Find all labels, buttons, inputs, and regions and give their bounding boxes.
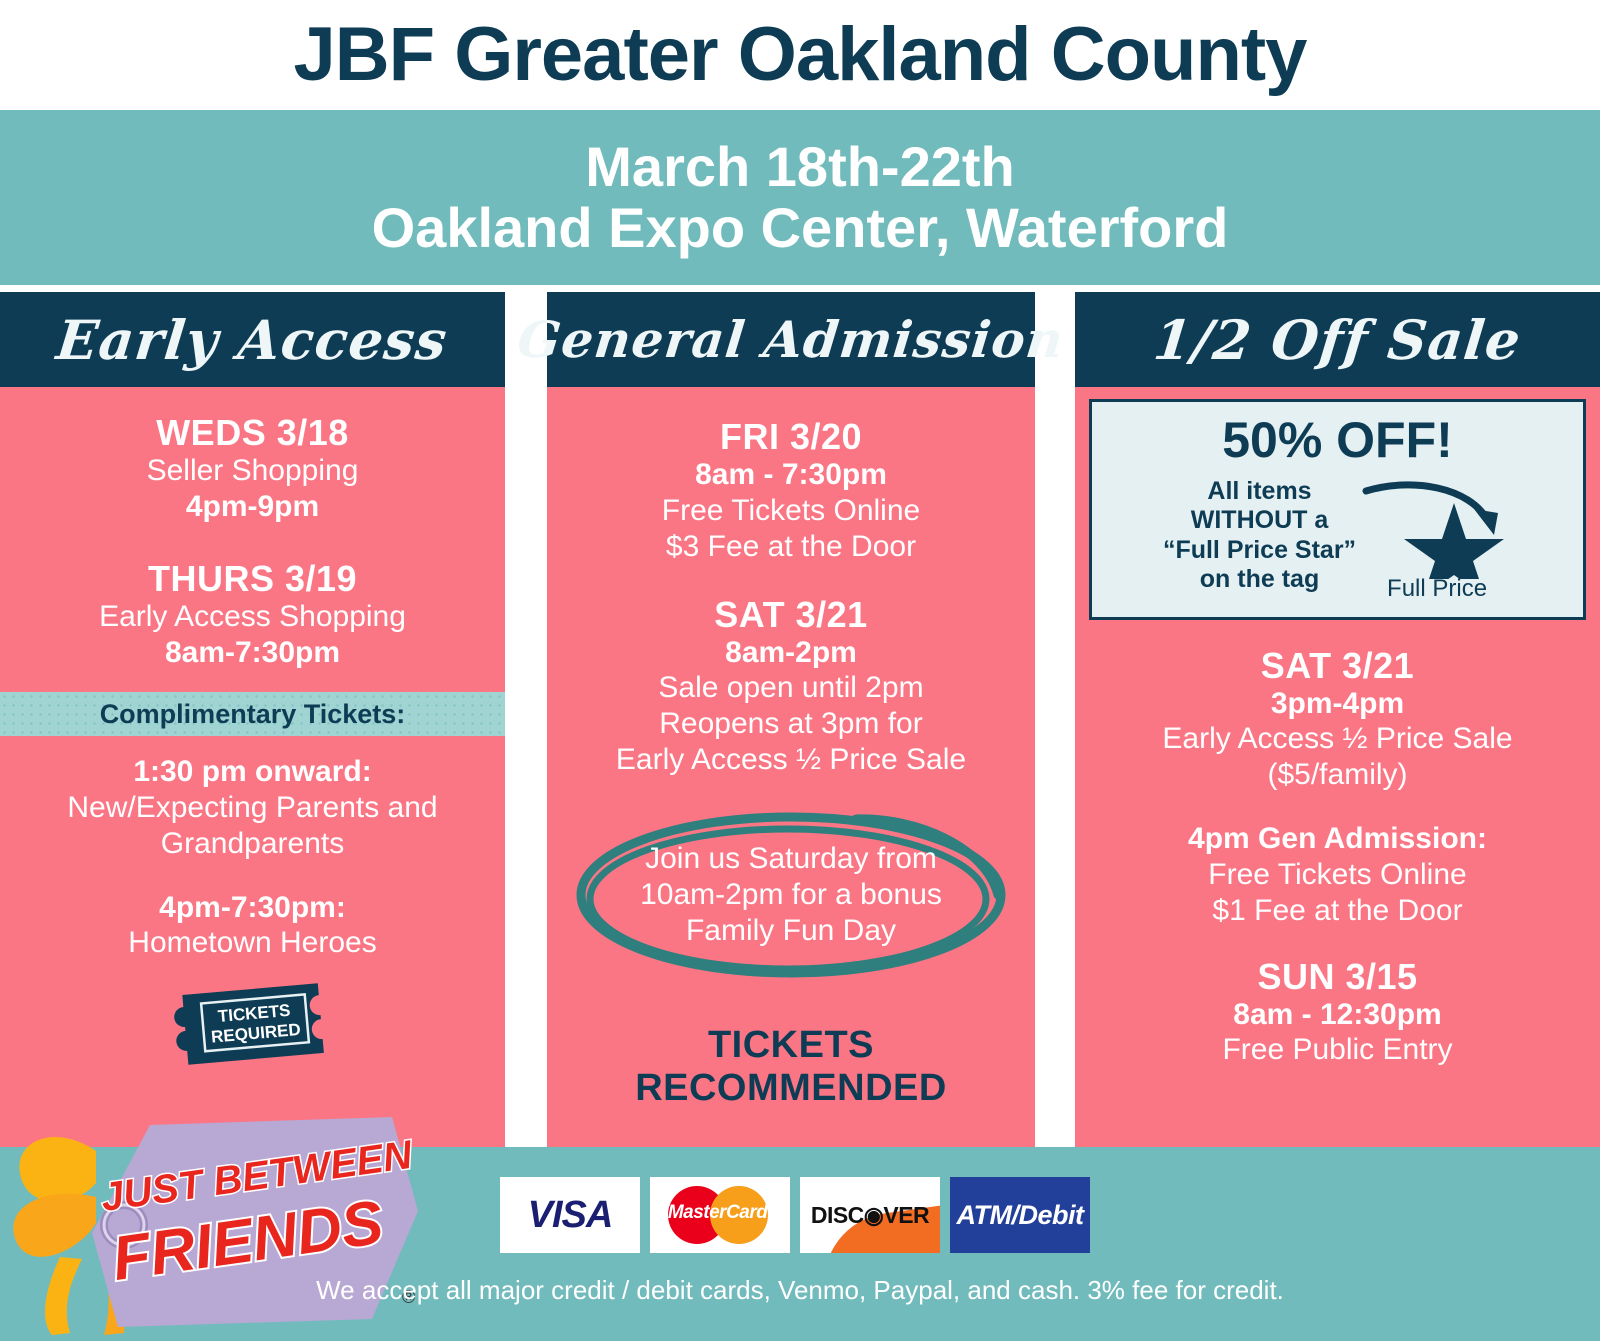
column-general-admission: General Admission FRI 3/20 8am - 7:30pm … [547, 292, 1035, 1147]
arrow-icon [1362, 469, 1512, 579]
atm-debit-logo: ATM/Debit [957, 1200, 1084, 1231]
schedule-time: 8am-2pm [547, 635, 1035, 670]
payment-card-discover: DISC◉VER [800, 1177, 940, 1253]
callout-line-2: 10am-2pm for a bonus [640, 877, 942, 913]
percent-off-label: 50% OFF! [1102, 414, 1573, 467]
schedule-note-2: ($5/family) [1075, 757, 1600, 793]
column-title-early-access: Early Access [54, 308, 451, 372]
schedule-note-1: Free Tickets Online [1075, 857, 1600, 893]
mastercard-label: MasterCard. [660, 1202, 780, 1224]
schedule-note-3: Early Access ½ Price Sale [547, 742, 1035, 778]
callout-line-1: Join us Saturday from [640, 841, 942, 877]
recommend-line-2: RECOMMENDED [547, 1067, 1035, 1110]
offbox-row: All items WITHOUT a “Full Price Star” on… [1102, 469, 1573, 603]
schedule-note-1: Free Public Entry [1075, 1032, 1600, 1068]
column-early-access: Early Access WEDS 3/18 Seller Shopping 4… [0, 292, 505, 1147]
schedule-block: WEDS 3/18 Seller Shopping 4pm-9pm [0, 413, 505, 525]
footer-bar: JUST BETWEEN FRIENDS ® VISA MasterCard. … [0, 1147, 1600, 1341]
complimentary-time: 4pm-7:30pm: [0, 890, 505, 925]
complimentary-block: 4pm-7:30pm: Hometown Heroes [0, 890, 505, 961]
schedule-note-1: Sale open until 2pm [547, 670, 1035, 706]
visa-logo: VISA [528, 1194, 613, 1237]
schedule-note-2: $1 Fee at the Door [1075, 893, 1600, 929]
complimentary-time: 1:30 pm onward: [0, 754, 505, 789]
recommend-line-1: TICKETS [547, 1024, 1035, 1067]
column-body-general-admission: FRI 3/20 8am - 7:30pm Free Tickets Onlin… [547, 387, 1035, 1147]
payment-card-atm-debit: ATM/Debit [950, 1177, 1090, 1253]
full-price-star-group: Full Price [1362, 469, 1512, 603]
full-price-label: Full Price [1387, 575, 1487, 603]
column-body-early-access: WEDS 3/18 Seller Shopping 4pm-9pm THURS … [0, 387, 505, 1147]
callout-text: Join us Saturday from 10am-2pm for a bon… [640, 841, 942, 949]
schedule-day: 4pm Gen Admission: [1075, 821, 1600, 856]
complimentary-note-2: Grandparents [0, 826, 505, 862]
column-title-general-admission: General Admission [515, 310, 1067, 369]
schedule-block: 4pm Gen Admission: Free Tickets Online $… [1075, 821, 1600, 928]
column-header-early-access: Early Access [0, 292, 505, 387]
family-fun-day-callout: Join us Saturday from 10am-2pm for a bon… [547, 800, 1035, 990]
tickets-recommended: TICKETS RECOMMENDED [547, 1024, 1035, 1109]
offbox-description: All items WITHOUT a “Full Price Star” on… [1163, 477, 1356, 595]
column-body-half-off-sale: 50% OFF! All items WITHOUT a “Full Price… [1075, 387, 1600, 1147]
column-header-general-admission: General Admission [547, 292, 1035, 387]
complimentary-note-1: Hometown Heroes [0, 925, 505, 961]
schedule-day: SAT 3/21 [547, 595, 1035, 635]
schedule-block: FRI 3/20 8am - 7:30pm Free Tickets Onlin… [547, 417, 1035, 565]
schedule-day: THURS 3/19 [0, 559, 505, 599]
schedule-note-1: Early Access ½ Price Sale [1075, 721, 1600, 757]
payment-card-visa: VISA [500, 1177, 640, 1253]
schedule-time: 8am - 7:30pm [547, 457, 1035, 492]
offbox-line-2: WITHOUT a [1163, 506, 1356, 536]
schedule-note: Seller Shopping [0, 453, 505, 489]
schedule-block: SAT 3/21 8am-2pm Sale open until 2pm Reo… [547, 595, 1035, 779]
schedule-day: FRI 3/20 [547, 417, 1035, 457]
schedule-note: Early Access Shopping [0, 599, 505, 635]
column-header-half-off-sale: 1/2 Off Sale [1075, 292, 1600, 387]
columns-area: Early Access WEDS 3/18 Seller Shopping 4… [0, 292, 1600, 1147]
schedule-time: 4pm-9pm [0, 489, 505, 524]
schedule-block: SAT 3/21 3pm-4pm Early Access ½ Price Sa… [1075, 646, 1600, 794]
offbox-line-1: All items [1163, 477, 1356, 507]
payment-card-mastercard: MasterCard. [650, 1177, 790, 1253]
schedule-time: 8am - 12:30pm [1075, 997, 1600, 1032]
page-title: JBF Greater Oakland County [294, 17, 1307, 93]
offbox-line-4: on the tag [1163, 565, 1356, 595]
header-title-bar: JBF Greater Oakland County [0, 0, 1600, 110]
ticket-icon: TICKETS REQUIRED [165, 968, 341, 1078]
event-venue: Oakland Expo Center, Waterford [372, 198, 1229, 258]
mastercard-logo: MasterCard. [660, 1184, 780, 1246]
header-subtitle-bar: March 18th-22th Oakland Expo Center, Wat… [0, 110, 1600, 285]
schedule-block: SUN 3/15 8am - 12:30pm Free Public Entry [1075, 957, 1600, 1069]
payment-disclaimer: We accept all major credit / debit cards… [0, 1275, 1600, 1306]
complimentary-block: 1:30 pm onward: New/Expecting Parents an… [0, 754, 505, 861]
callout-line-3: Family Fun Day [640, 913, 942, 949]
schedule-note-2: $3 Fee at the Door [547, 529, 1035, 565]
discover-logo: DISC◉VER [811, 1202, 929, 1229]
schedule-day: SUN 3/15 [1075, 957, 1600, 997]
schedule-note-1: Free Tickets Online [547, 493, 1035, 529]
column-half-off-sale: 1/2 Off Sale 50% OFF! All items WITHOUT … [1075, 292, 1600, 1147]
event-date: March 18th-22th [585, 137, 1014, 197]
schedule-note-2: Reopens at 3pm for [547, 706, 1035, 742]
fifty-percent-off-box: 50% OFF! All items WITHOUT a “Full Price… [1089, 399, 1586, 620]
offbox-line-3: “Full Price Star” [1163, 536, 1356, 566]
schedule-time: 3pm-4pm [1075, 686, 1600, 721]
schedule-day: SAT 3/21 [1075, 646, 1600, 686]
schedule-time: 8am-7:30pm [0, 635, 505, 670]
complimentary-note-1: New/Expecting Parents and [0, 790, 505, 826]
schedule-day: WEDS 3/18 [0, 413, 505, 453]
tickets-required-badge: TICKETS REQUIRED [0, 975, 505, 1071]
complimentary-tickets-band: Complimentary Tickets: [0, 692, 505, 736]
schedule-block: THURS 3/19 Early Access Shopping 8am-7:3… [0, 559, 505, 671]
column-title-half-off-sale: 1/2 Off Sale [1151, 308, 1525, 372]
payment-methods: VISA MasterCard. DISC◉VER ATM/Debit [500, 1177, 1090, 1253]
